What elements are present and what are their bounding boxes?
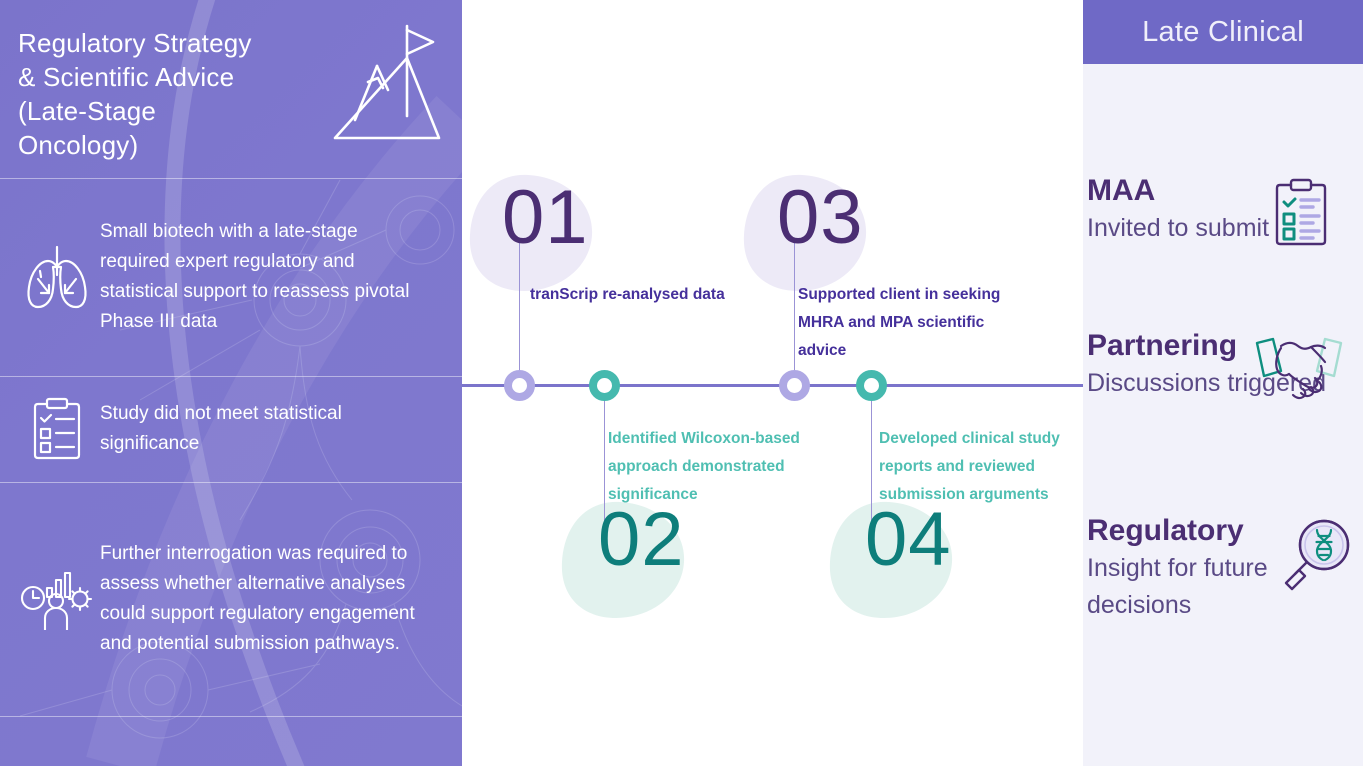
step-number-01: 01 (502, 180, 589, 256)
clipboard-check-icon (1269, 176, 1333, 253)
right-outcomes-panel: Late Clinical MAA Invited to submit (1083, 0, 1363, 766)
timeline-marker-01[interactable] (504, 370, 535, 401)
page-title-line: Regulatory Strategy (18, 26, 328, 60)
right-header-title: Late Clinical (1142, 16, 1304, 49)
page-title: Regulatory Strategy & Scientific Advice … (18, 26, 328, 162)
page-title-line: Oncology) (18, 128, 328, 162)
left-title-block: Regulatory Strategy & Scientific Advice … (0, 0, 462, 178)
handshake-icon (1251, 335, 1347, 412)
step-text-04: Developed clinical study reports and rev… (879, 425, 1083, 509)
step-number-03: 03 (777, 180, 864, 256)
timeline-marker-02[interactable] (589, 370, 620, 401)
lungs-icon (14, 241, 100, 313)
left-panel: Regulatory Strategy & Scientific Advice … (0, 0, 462, 766)
outcome-item-maa: MAA Invited to submit (1083, 172, 1363, 247)
center-timeline-panel: 01 02 03 04 tranScrip re-analysed data I… (462, 0, 1083, 766)
step-number-02: 02 (598, 502, 685, 578)
clock-chart-gear-person-icon (14, 568, 100, 630)
right-panel-header: Late Clinical (1083, 0, 1363, 64)
step-text-01: tranScrip re-analysed data (530, 281, 765, 309)
page-title-line: & Scientific Advice (18, 60, 328, 94)
step-text-03: Supported client in seeking MHRA and MPA… (798, 281, 1028, 365)
left-item-1: Small biotech with a late-stage required… (0, 178, 462, 376)
timeline-marker-03[interactable] (779, 370, 810, 401)
left-item-2: Study did not meet statistical significa… (0, 376, 462, 482)
timeline-marker-04[interactable] (856, 370, 887, 401)
mountain-flag-icon (330, 20, 442, 145)
left-item-3-text: Further interrogation was required to as… (100, 539, 432, 659)
left-item-3: Further interrogation was required to as… (0, 482, 462, 716)
infographic-page: Regulatory Strategy & Scientific Advice … (0, 0, 1363, 766)
outcome-item-partnering: Partnering Discussions triggered (1083, 327, 1363, 402)
left-item-2-text: Study did not meet statistical significa… (100, 399, 432, 459)
divider (0, 716, 462, 717)
page-title-line: (Late-Stage (18, 94, 328, 128)
timeline-axis (462, 384, 1083, 387)
step-number-04: 04 (865, 502, 952, 578)
step-text-02: Identified Wilcoxon-based approach demon… (608, 425, 833, 509)
magnifier-dna-icon (1277, 518, 1355, 597)
clipboard-checklist-icon (14, 397, 100, 461)
outcome-item-regulatory: Regulatory Insight for future decisions (1083, 512, 1363, 624)
left-item-1-text: Small biotech with a late-stage required… (100, 217, 432, 337)
